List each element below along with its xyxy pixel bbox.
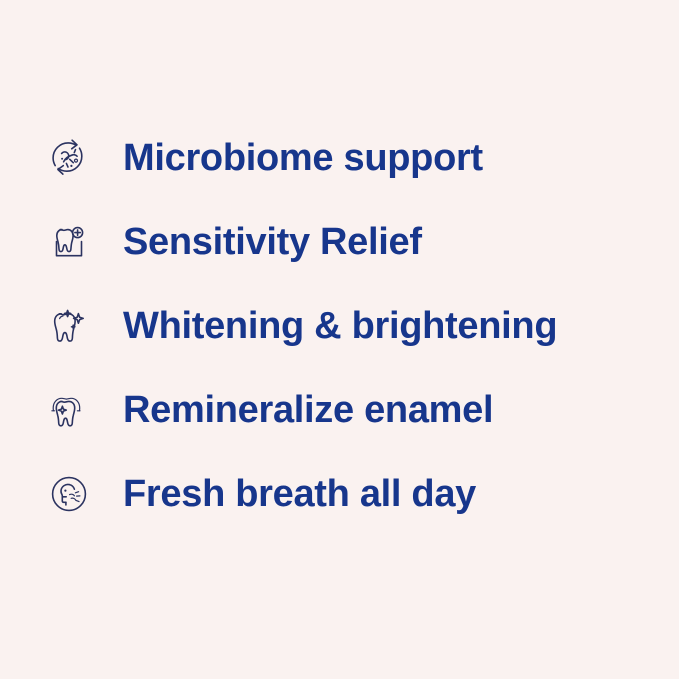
benefit-row: Whitening & brightening — [0, 284, 679, 368]
benefit-label: Remineralize enamel — [123, 391, 493, 429]
benefit-row: Remineralize enamel — [0, 368, 679, 452]
benefit-label: Sensitivity Relief — [123, 223, 422, 261]
tooth-shield-sparkle-icon — [46, 387, 92, 433]
fresh-breath-head-icon — [46, 471, 92, 517]
benefits-panel: Microbiome support Sensitivity Relief — [0, 0, 679, 679]
tooth-gum-plus-icon — [46, 219, 92, 265]
benefit-label: Fresh breath all day — [123, 475, 476, 513]
benefit-label: Whitening & brightening — [123, 307, 557, 345]
benefit-row: Fresh breath all day — [0, 452, 679, 536]
benefit-label: Microbiome support — [123, 139, 483, 177]
benefit-row: Sensitivity Relief — [0, 200, 679, 284]
benefit-list: Microbiome support Sensitivity Relief — [0, 116, 679, 536]
tooth-sparkle-icon — [46, 303, 92, 349]
microbe-refresh-icon — [46, 135, 92, 181]
benefit-row: Microbiome support — [0, 116, 679, 200]
